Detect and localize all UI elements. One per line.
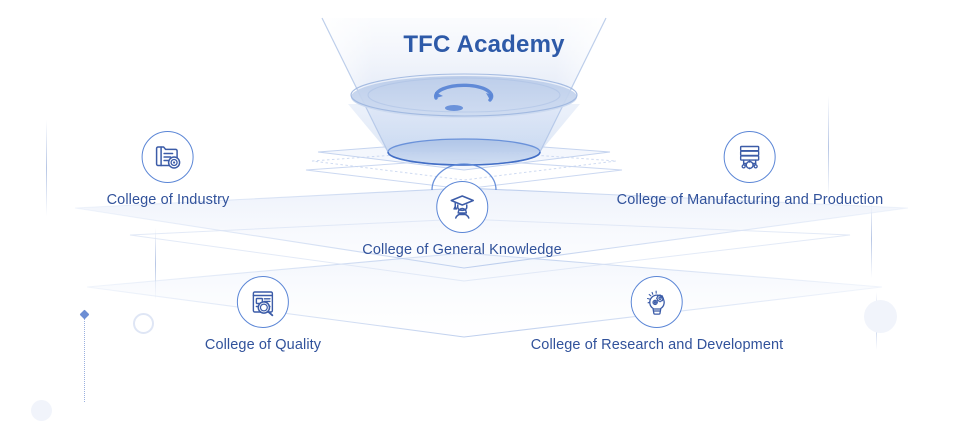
node-college-of-manufacturing-and-production[interactable]: College of Manufacturing and Production	[617, 131, 884, 208]
deco-vline-left-inner	[155, 228, 156, 300]
node-college-of-general-knowledge[interactable]: College of General Knowledge	[362, 181, 561, 258]
deco-blob-right	[864, 300, 897, 333]
node-college-of-industry[interactable]: College of Industry	[107, 131, 230, 208]
deco-blob-bottom-left	[31, 400, 52, 421]
node-label: College of Quality	[205, 337, 321, 353]
node-icon-wrapper[interactable]	[436, 181, 488, 233]
node-college-of-research-and-development[interactable]: College of Research and Development	[531, 276, 784, 353]
deco-vline-right	[871, 200, 872, 278]
node-label: College of General Knowledge	[362, 242, 561, 258]
diagram-canvas: TFC Academy College of Industry	[0, 0, 968, 430]
refresh-circular-arrow-icon	[435, 85, 493, 111]
page-title: TFC Academy	[0, 31, 968, 59]
node-label: College of Manufacturing and Production	[617, 192, 884, 208]
graduate-student-cap-icon	[446, 191, 478, 223]
node-label: College of Industry	[107, 192, 230, 208]
deco-vline-left	[46, 120, 47, 216]
deco-ring-small	[133, 313, 154, 334]
deco-dotted-line	[84, 316, 85, 402]
document-folder-badge-icon	[152, 141, 184, 173]
deco-diamond-dot	[80, 310, 90, 320]
factory-server-rack-icon	[734, 141, 766, 173]
node-icon-wrapper[interactable]	[142, 131, 194, 183]
node-icon-wrapper[interactable]	[724, 131, 776, 183]
node-label: College of Research and Development	[531, 337, 784, 353]
node-college-of-quality[interactable]: College of Quality	[205, 276, 321, 353]
lightbulb-gears-idea-icon	[641, 286, 673, 318]
node-icon-wrapper[interactable]	[631, 276, 683, 328]
node-icon-wrapper[interactable]	[237, 276, 289, 328]
document-magnifier-icon	[247, 286, 279, 318]
